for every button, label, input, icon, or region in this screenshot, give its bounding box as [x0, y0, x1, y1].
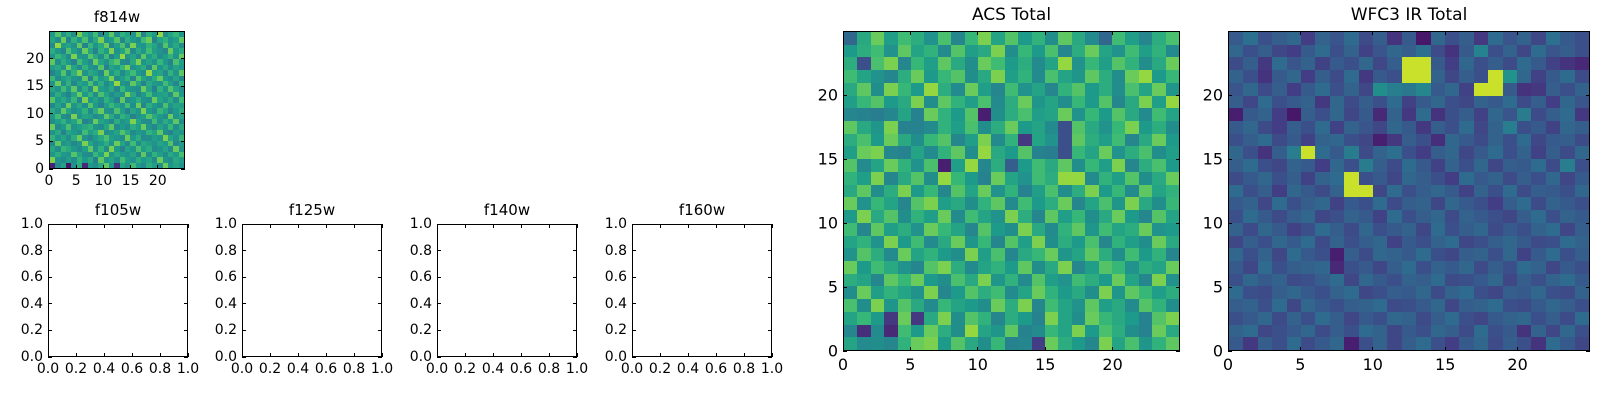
y-tick-mark — [48, 330, 52, 331]
y-tick-mark — [632, 250, 636, 251]
y-tick-mark-right — [1176, 223, 1180, 224]
y-tick-mark-right — [1586, 287, 1590, 288]
y-tick-mark — [437, 224, 441, 225]
y-tick-mark-right — [378, 250, 382, 251]
x-tick-label: 20 — [1507, 355, 1527, 374]
y-tick-mark — [48, 250, 52, 251]
heatmap-wfc3-ir-total — [1229, 32, 1589, 350]
axes-f105w: f105w 0.00.20.40.60.81.00.00.20.40.60.81… — [48, 224, 188, 357]
y-tick-mark — [242, 330, 246, 331]
y-tick-label: 0.2 — [410, 322, 432, 338]
x-tick-mark — [660, 353, 661, 357]
axes-title-f125w: f125w — [289, 201, 335, 219]
y-tick-mark — [632, 357, 636, 358]
axes-f140w: f140w 0.00.20.40.60.81.00.00.20.40.60.81… — [437, 224, 577, 357]
y-tick-label: 0.2 — [21, 322, 43, 338]
x-tick-mark-top — [1517, 31, 1518, 35]
x-tick-label: 0 — [45, 173, 54, 189]
x-tick-mark-top — [549, 224, 550, 228]
x-tick-mark-top — [744, 224, 745, 228]
heatmap-f814w — [50, 32, 184, 168]
x-tick-mark-top — [521, 224, 522, 228]
x-tick-mark-top — [660, 224, 661, 228]
x-tick-label: 0 — [1223, 355, 1233, 374]
x-tick-label: 5 — [905, 355, 915, 374]
x-tick-mark-top — [160, 224, 161, 228]
x-tick-label: 0.2 — [259, 361, 281, 377]
y-tick-mark-right — [378, 330, 382, 331]
y-tick-mark-right — [1176, 351, 1180, 352]
y-tick-mark — [1228, 223, 1232, 224]
y-tick-mark-right — [181, 141, 185, 142]
x-tick-label: 0.2 — [65, 361, 87, 377]
x-tick-label: 0.8 — [733, 361, 755, 377]
y-tick-label: 20 — [1203, 86, 1223, 105]
y-tick-mark-right — [184, 224, 188, 225]
y-tick-label: 0.6 — [410, 269, 432, 285]
y-tick-label: 0.4 — [215, 296, 237, 312]
plot-area-f140w — [437, 224, 577, 357]
y-tick-label: 10 — [1203, 214, 1223, 233]
x-tick-label: 0.6 — [315, 361, 337, 377]
axes-wfc3-ir-total: WFC3 IR Total 0510152005101520 — [1228, 31, 1590, 351]
axes-f160w: f160w 0.00.20.40.60.81.00.00.20.40.60.81… — [632, 224, 772, 357]
x-tick-mark-top — [104, 224, 105, 228]
x-tick-mark — [132, 353, 133, 357]
x-tick-label: 0.6 — [121, 361, 143, 377]
y-tick-mark — [242, 357, 246, 358]
x-tick-mark — [298, 353, 299, 357]
y-tick-mark — [48, 303, 52, 304]
x-tick-label: 0 — [838, 355, 848, 374]
y-tick-label: 1.0 — [410, 216, 432, 232]
x-tick-mark — [1445, 347, 1446, 351]
y-tick-mark-right — [378, 357, 382, 358]
y-tick-label: 20 — [26, 51, 44, 67]
y-tick-mark-right — [181, 169, 185, 170]
x-tick-label: 0.4 — [482, 361, 504, 377]
x-tick-mark — [160, 353, 161, 357]
matplotlib-figure: f814w 0510152005101520 f105w 0.00.20.40.… — [0, 0, 1600, 400]
plot-area-wfc3-ir-total — [1228, 31, 1590, 351]
y-tick-mark-right — [1176, 95, 1180, 96]
y-tick-mark — [48, 224, 52, 225]
y-tick-mark-right — [573, 330, 577, 331]
y-tick-mark-right — [573, 224, 577, 225]
y-tick-mark-right — [1586, 95, 1590, 96]
y-tick-mark-right — [184, 357, 188, 358]
x-tick-mark-top — [76, 31, 77, 35]
y-tick-mark-right — [181, 113, 185, 114]
y-tick-mark — [1228, 351, 1232, 352]
y-tick-mark-right — [1586, 223, 1590, 224]
x-tick-mark-top — [132, 224, 133, 228]
x-tick-mark-top — [1445, 31, 1446, 35]
x-tick-mark-top — [716, 224, 717, 228]
y-tick-mark — [1228, 159, 1232, 160]
y-tick-mark-right — [181, 58, 185, 59]
x-tick-mark — [103, 165, 104, 169]
x-tick-mark — [354, 353, 355, 357]
y-tick-label: 0.8 — [21, 243, 43, 259]
x-tick-label: 15 — [1435, 355, 1455, 374]
x-tick-mark — [744, 353, 745, 357]
y-tick-label: 0 — [35, 161, 44, 177]
x-tick-mark-top — [130, 31, 131, 35]
y-tick-mark-right — [184, 250, 188, 251]
x-tick-mark-top — [76, 224, 77, 228]
x-tick-label: 1.0 — [566, 361, 588, 377]
y-tick-mark-right — [184, 330, 188, 331]
y-tick-mark-right — [184, 277, 188, 278]
y-tick-mark — [437, 277, 441, 278]
y-tick-mark-right — [573, 357, 577, 358]
x-tick-mark-top — [843, 31, 844, 35]
x-tick-mark — [76, 353, 77, 357]
y-tick-label: 0.6 — [215, 269, 237, 285]
y-tick-mark — [437, 330, 441, 331]
x-tick-mark-top — [577, 224, 578, 228]
y-tick-label: 5 — [828, 278, 838, 297]
y-tick-label: 1.0 — [215, 216, 237, 232]
y-tick-mark-right — [378, 303, 382, 304]
x-tick-mark-top — [465, 224, 466, 228]
y-tick-label: 5 — [1213, 278, 1223, 297]
x-tick-mark-top — [382, 224, 383, 228]
x-tick-label: 0.6 — [510, 361, 532, 377]
x-tick-mark-top — [1372, 31, 1373, 35]
y-tick-label: 0.0 — [410, 349, 432, 365]
y-tick-mark-right — [768, 330, 772, 331]
x-tick-label: 20 — [1102, 355, 1122, 374]
y-tick-label: 0.4 — [605, 296, 627, 312]
y-tick-label: 10 — [818, 214, 838, 233]
axes-f814w: f814w 0510152005101520 — [49, 31, 185, 169]
y-tick-mark-right — [1176, 287, 1180, 288]
y-tick-mark — [49, 169, 53, 170]
x-tick-mark — [1045, 347, 1046, 351]
axes-title-acs-total: ACS Total — [972, 5, 1051, 25]
x-tick-mark-top — [437, 224, 438, 228]
y-tick-mark-right — [378, 277, 382, 278]
x-tick-label: 5 — [1295, 355, 1305, 374]
x-tick-label: 10 — [968, 355, 988, 374]
x-tick-mark — [104, 353, 105, 357]
x-tick-mark-top — [354, 224, 355, 228]
y-tick-label: 0.0 — [21, 349, 43, 365]
x-tick-mark-top — [270, 224, 271, 228]
x-tick-mark-top — [977, 31, 978, 35]
x-tick-mark-top — [1045, 31, 1046, 35]
x-tick-mark-top — [188, 224, 189, 228]
y-tick-mark-right — [573, 250, 577, 251]
x-tick-label: 10 — [94, 173, 112, 189]
y-tick-mark-right — [768, 357, 772, 358]
plot-area-f160w — [632, 224, 772, 357]
axes-title-wfc3-ir-total: WFC3 IR Total — [1351, 5, 1468, 25]
x-tick-mark-top — [493, 224, 494, 228]
x-tick-mark — [493, 353, 494, 357]
y-tick-label: 15 — [1203, 150, 1223, 169]
x-tick-label: 1.0 — [761, 361, 783, 377]
x-tick-mark — [521, 353, 522, 357]
y-tick-mark — [632, 303, 636, 304]
y-tick-label: 0.6 — [21, 269, 43, 285]
x-tick-label: 0.2 — [454, 361, 476, 377]
y-tick-mark-right — [573, 277, 577, 278]
x-tick-mark-top — [1228, 31, 1229, 35]
y-tick-label: 0.0 — [605, 349, 627, 365]
axes-title-f160w: f160w — [679, 201, 725, 219]
y-tick-label: 0.4 — [21, 296, 43, 312]
y-tick-mark — [843, 95, 847, 96]
x-tick-mark-top — [632, 224, 633, 228]
y-tick-label: 0.2 — [605, 322, 627, 338]
plot-area-f814w — [49, 31, 185, 169]
y-tick-mark — [48, 357, 52, 358]
y-tick-mark-right — [768, 303, 772, 304]
y-tick-mark — [632, 277, 636, 278]
y-tick-mark — [437, 357, 441, 358]
x-tick-mark — [270, 353, 271, 357]
y-tick-mark — [49, 86, 53, 87]
x-tick-label: 5 — [72, 173, 81, 189]
x-tick-mark — [1517, 347, 1518, 351]
x-tick-mark — [716, 353, 717, 357]
y-tick-mark — [437, 303, 441, 304]
y-tick-mark-right — [768, 250, 772, 251]
y-tick-mark — [843, 159, 847, 160]
x-tick-label: 1.0 — [371, 361, 393, 377]
axes-f125w: f125w 0.00.20.40.60.81.00.00.20.40.60.81… — [242, 224, 382, 357]
y-tick-mark — [632, 224, 636, 225]
y-tick-mark — [437, 250, 441, 251]
x-tick-label: 0.6 — [705, 361, 727, 377]
y-tick-mark — [242, 224, 246, 225]
x-tick-mark-top — [157, 31, 158, 35]
y-tick-label: 1.0 — [21, 216, 43, 232]
y-tick-label: 0.8 — [215, 243, 237, 259]
x-tick-mark-top — [242, 224, 243, 228]
y-tick-mark — [49, 141, 53, 142]
y-tick-mark — [242, 303, 246, 304]
y-tick-label: 5 — [35, 133, 44, 149]
y-tick-label: 0.2 — [215, 322, 237, 338]
y-tick-mark — [632, 330, 636, 331]
x-tick-mark — [688, 353, 689, 357]
x-tick-label: 0.8 — [149, 361, 171, 377]
x-tick-mark — [977, 347, 978, 351]
y-tick-mark-right — [1176, 159, 1180, 160]
x-tick-mark-top — [103, 31, 104, 35]
y-tick-mark — [1228, 95, 1232, 96]
x-tick-mark-top — [298, 224, 299, 228]
x-tick-mark — [549, 353, 550, 357]
x-tick-label: 10 — [1363, 355, 1383, 374]
y-tick-label: 0.4 — [410, 296, 432, 312]
x-tick-label: 0.4 — [287, 361, 309, 377]
x-tick-mark — [157, 165, 158, 169]
x-tick-mark-top — [49, 31, 50, 35]
y-tick-label: 0 — [828, 342, 838, 361]
heatmap-acs-total — [844, 32, 1179, 350]
x-tick-label: 0.2 — [649, 361, 671, 377]
y-tick-mark — [242, 250, 246, 251]
axes-title-f105w: f105w — [95, 201, 141, 219]
y-tick-mark — [48, 277, 52, 278]
plot-area-f125w — [242, 224, 382, 357]
y-tick-mark-right — [184, 303, 188, 304]
y-tick-label: 0 — [1213, 342, 1223, 361]
axes-title-f814w: f814w — [94, 8, 140, 26]
x-tick-mark — [910, 347, 911, 351]
x-tick-mark-top — [772, 224, 773, 228]
y-tick-mark — [49, 58, 53, 59]
x-tick-label: 0.8 — [343, 361, 365, 377]
x-tick-label: 0.4 — [93, 361, 115, 377]
x-tick-mark — [130, 165, 131, 169]
x-tick-label: 15 — [122, 173, 140, 189]
y-tick-mark-right — [768, 277, 772, 278]
y-tick-mark-right — [768, 224, 772, 225]
y-tick-label: 20 — [818, 86, 838, 105]
x-tick-mark-top — [1112, 31, 1113, 35]
y-tick-label: 15 — [818, 150, 838, 169]
y-tick-mark-right — [378, 224, 382, 225]
x-tick-mark-top — [326, 224, 327, 228]
y-tick-mark — [843, 223, 847, 224]
x-tick-mark — [76, 165, 77, 169]
axes-title-f140w: f140w — [484, 201, 530, 219]
y-tick-mark-right — [573, 303, 577, 304]
x-tick-mark-top — [1300, 31, 1301, 35]
x-tick-label: 0.4 — [677, 361, 699, 377]
y-tick-mark — [49, 113, 53, 114]
x-tick-label: 0.8 — [538, 361, 560, 377]
x-tick-mark — [1300, 347, 1301, 351]
y-tick-mark — [843, 287, 847, 288]
x-tick-label: 20 — [149, 173, 167, 189]
y-tick-mark — [242, 277, 246, 278]
y-tick-label: 10 — [26, 106, 44, 122]
x-tick-mark — [1372, 347, 1373, 351]
y-tick-mark-right — [1586, 159, 1590, 160]
y-tick-mark-right — [181, 86, 185, 87]
y-tick-label: 15 — [26, 78, 44, 94]
y-tick-label: 0.6 — [605, 269, 627, 285]
y-tick-mark-right — [1586, 351, 1590, 352]
y-tick-label: 0.8 — [410, 243, 432, 259]
x-tick-mark-top — [910, 31, 911, 35]
x-tick-mark — [465, 353, 466, 357]
x-tick-mark-top — [688, 224, 689, 228]
x-tick-mark-top — [48, 224, 49, 228]
y-tick-mark — [1228, 287, 1232, 288]
x-tick-label: 1.0 — [177, 361, 199, 377]
plot-area-f105w — [48, 224, 188, 357]
plot-area-acs-total — [843, 31, 1180, 351]
x-tick-label: 15 — [1035, 355, 1055, 374]
x-tick-mark — [326, 353, 327, 357]
axes-acs-total: ACS Total 0510152005101520 — [843, 31, 1180, 351]
y-tick-label: 1.0 — [605, 216, 627, 232]
y-tick-label: 0.0 — [215, 349, 237, 365]
y-tick-mark — [843, 351, 847, 352]
y-tick-label: 0.8 — [605, 243, 627, 259]
x-tick-mark — [1112, 347, 1113, 351]
